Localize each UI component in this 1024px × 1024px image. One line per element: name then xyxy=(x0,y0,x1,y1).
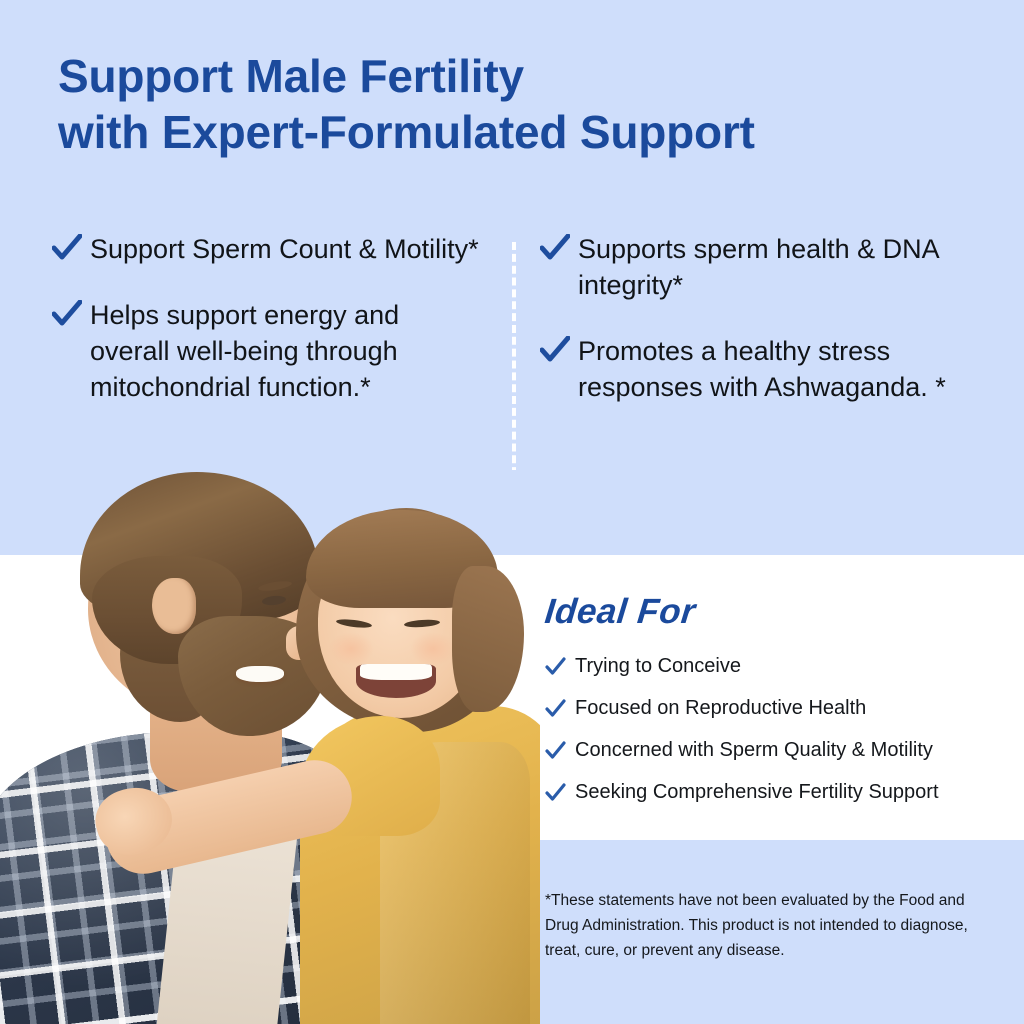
benefit-text: Promotes a healthy stress responses with… xyxy=(578,334,970,406)
ideal-for-title: Ideal For xyxy=(543,592,1007,632)
checkmark-icon xyxy=(545,783,575,803)
checkmark-icon xyxy=(52,232,90,262)
dashed-vertical-divider xyxy=(512,242,516,487)
child-cheek-right xyxy=(410,632,456,666)
ideal-for-item: Seeking Comprehensive Fertility Support xyxy=(545,780,1005,805)
man-mouth xyxy=(236,666,284,682)
checkmark-icon xyxy=(545,699,575,719)
checkmark-icon xyxy=(545,741,575,761)
child-teeth xyxy=(360,664,432,680)
ideal-for-item-label: Concerned with Sperm Quality & Motility xyxy=(575,738,933,763)
man-ear xyxy=(152,578,196,634)
ideal-for-item-label: Seeking Comprehensive Fertility Support xyxy=(575,780,939,805)
benefit-item: Support Sperm Count & Motility* xyxy=(52,232,482,268)
ideal-for-item: Concerned with Sperm Quality & Motility xyxy=(545,738,1005,763)
checkmark-icon xyxy=(52,298,90,328)
child-smile xyxy=(356,664,436,698)
fda-disclaimer: *These statements have not been evaluate… xyxy=(545,888,995,963)
checkmark-icon xyxy=(540,232,578,262)
checkmark-icon xyxy=(545,657,575,677)
benefits-column-left: Support Sperm Count & Motility* Helps su… xyxy=(52,232,482,436)
ideal-for-item-label: Focused on Reproductive Health xyxy=(575,696,866,721)
benefit-item: Supports sperm health & DNA integrity* xyxy=(540,232,970,304)
benefit-text: Supports sperm health & DNA integrity* xyxy=(578,232,970,304)
benefits-column-right: Supports sperm health & DNA integrity* P… xyxy=(540,232,970,436)
headline-line-2: with Expert-Formulated Support xyxy=(58,104,958,160)
page-title: Support Male Fertility with Expert-Formu… xyxy=(58,48,958,160)
benefit-text: Helps support energy and overall well-be… xyxy=(90,298,482,406)
benefit-text: Support Sperm Count & Motility* xyxy=(90,232,479,268)
ideal-for-item-label: Trying to Conceive xyxy=(575,654,741,679)
product-benefits-infographic: Support Male Fertility with Expert-Formu… xyxy=(0,0,1024,1024)
ideal-for-section: Ideal For Trying to Conceive Focused on … xyxy=(545,592,1005,822)
ideal-for-item: Focused on Reproductive Health xyxy=(545,696,1005,721)
benefit-item: Promotes a healthy stress responses with… xyxy=(540,334,970,406)
headline-line-1: Support Male Fertility xyxy=(58,48,958,104)
benefit-item: Helps support energy and overall well-be… xyxy=(52,298,482,406)
checkmark-icon xyxy=(540,334,578,364)
child-cheek-left xyxy=(328,632,374,666)
ideal-for-item: Trying to Conceive xyxy=(545,654,1005,679)
family-photo xyxy=(0,470,540,1024)
